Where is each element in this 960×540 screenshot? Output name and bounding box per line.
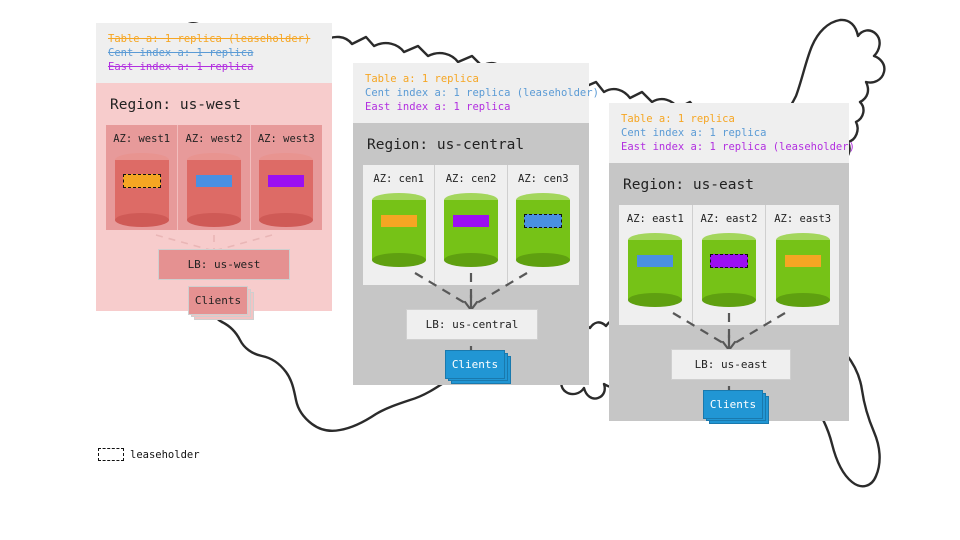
- az-cen1[interactable]: AZ: cen1: [363, 165, 434, 285]
- az-east2-label: AZ: east2: [693, 213, 766, 225]
- cylinder-body: [259, 160, 313, 220]
- cylinder-body: [187, 160, 241, 220]
- replica-chunk-cent-index: [637, 255, 673, 267]
- replica-line-cent: Cent index a: 1 replica: [621, 126, 837, 140]
- replica-chunk-cent-index: [196, 175, 232, 187]
- replica-line-table: Table a: 1 replica (leaseholder): [108, 32, 320, 46]
- cylinder-body: [372, 200, 426, 260]
- az-cen1-label: AZ: cen1: [363, 173, 434, 185]
- az-west3[interactable]: AZ: west3: [250, 125, 322, 230]
- cylinder-bottom: [776, 293, 830, 307]
- cylinder-body: [628, 240, 682, 300]
- replica-line-cent: Cent index a: 1 replica: [108, 46, 320, 60]
- cylinder-body: [776, 240, 830, 300]
- cylinder-bottom: [516, 253, 570, 267]
- clients-us-west[interactable]: Clients: [188, 286, 248, 315]
- cylinder-body: [702, 240, 756, 300]
- cylinder-bottom: [115, 213, 169, 227]
- database-cylinder-west1: [115, 153, 169, 227]
- az-cen3-label: AZ: cen3: [508, 173, 579, 185]
- database-cylinder-east2: [702, 233, 756, 307]
- cylinder-body: [444, 200, 498, 260]
- region-us-east: Table a: 1 replica Cent index a: 1 repli…: [609, 103, 849, 421]
- load-balancer-us-east[interactable]: LB: us-east: [671, 349, 791, 380]
- clients-us-east[interactable]: Clients: [703, 390, 763, 419]
- cylinder-bottom: [628, 293, 682, 307]
- replica-chunk-table: [785, 255, 821, 267]
- leaseholder-legend: leaseholder: [98, 448, 200, 461]
- replica-line-east: East index a: 1 replica: [365, 100, 577, 114]
- cylinder-body: [115, 160, 169, 220]
- replica-chunk-table: [381, 215, 417, 227]
- load-balancer-us-west[interactable]: LB: us-west: [158, 249, 290, 280]
- replica-chunk-east-index: [268, 175, 304, 187]
- replica-line-table: Table a: 1 replica: [365, 72, 577, 86]
- az-cen3[interactable]: AZ: cen3: [507, 165, 579, 285]
- cylinder-bottom: [187, 213, 241, 227]
- cylinder-bottom: [372, 253, 426, 267]
- az-east1-label: AZ: east1: [619, 213, 692, 225]
- region-us-west-az-row: AZ: west1 AZ: west2: [106, 125, 322, 230]
- region-us-west-replica-legend: Table a: 1 replica (leaseholder) Cent in…: [96, 23, 332, 83]
- az-west1-label: AZ: west1: [106, 133, 177, 145]
- dashed-rect-icon: [98, 448, 124, 461]
- region-us-central: Table a: 1 replica Cent index a: 1 repli…: [353, 63, 589, 385]
- database-cylinder-cen1: [372, 193, 426, 267]
- az-cen2-label: AZ: cen2: [435, 173, 506, 185]
- az-east3-label: AZ: east3: [766, 213, 839, 225]
- region-us-central-body: Region: us-central AZ: cen1 AZ: cen2: [353, 123, 589, 385]
- region-us-east-title: Region: us-east: [609, 163, 849, 205]
- leaseholder-legend-label: leaseholder: [130, 449, 200, 461]
- database-cylinder-west3: [259, 153, 313, 227]
- database-cylinder-west2: [187, 153, 241, 227]
- region-us-central-az-row: AZ: cen1 AZ: cen2: [363, 165, 579, 285]
- diagram-canvas: Table a: 1 replica (leaseholder) Cent in…: [0, 0, 960, 540]
- database-cylinder-cen3: [516, 193, 570, 267]
- replica-chunk-table-leaseholder: [123, 174, 161, 188]
- az-east1[interactable]: AZ: east1: [619, 205, 692, 325]
- replica-chunk-east-index: [453, 215, 489, 227]
- load-balancer-us-central[interactable]: LB: us-central: [406, 309, 538, 340]
- az-east2[interactable]: AZ: east2: [692, 205, 766, 325]
- region-us-central-title: Region: us-central: [353, 123, 589, 165]
- region-us-east-body: Region: us-east AZ: east1 AZ: east2: [609, 163, 849, 421]
- database-cylinder-cen2: [444, 193, 498, 267]
- database-cylinder-east3: [776, 233, 830, 307]
- region-us-east-replica-legend: Table a: 1 replica Cent index a: 1 repli…: [609, 103, 849, 163]
- az-east3[interactable]: AZ: east3: [765, 205, 839, 325]
- replica-chunk-east-index-leaseholder: [710, 254, 748, 268]
- az-cen2[interactable]: AZ: cen2: [434, 165, 506, 285]
- az-west2-label: AZ: west2: [178, 133, 249, 145]
- cylinder-body: [516, 200, 570, 260]
- replica-line-east: East index a: 1 replica: [108, 60, 320, 74]
- cylinder-bottom: [259, 213, 313, 227]
- region-us-west: Table a: 1 replica (leaseholder) Cent in…: [96, 23, 332, 311]
- replica-line-east: East index a: 1 replica (leaseholder): [621, 140, 837, 154]
- az-west3-label: AZ: west3: [251, 133, 322, 145]
- clients-us-central[interactable]: Clients: [445, 350, 505, 379]
- replica-line-cent: Cent index a: 1 replica (leaseholder): [365, 86, 577, 100]
- region-us-west-body: Region: us-west AZ: west1 AZ: west2: [96, 83, 332, 311]
- region-us-east-az-row: AZ: east1 AZ: east2: [619, 205, 839, 325]
- region-us-west-title: Region: us-west: [96, 83, 332, 125]
- az-west1[interactable]: AZ: west1: [106, 125, 177, 230]
- cylinder-bottom: [444, 253, 498, 267]
- region-us-central-replica-legend: Table a: 1 replica Cent index a: 1 repli…: [353, 63, 589, 123]
- database-cylinder-east1: [628, 233, 682, 307]
- replica-chunk-cent-index-leaseholder: [524, 214, 562, 228]
- az-west2[interactable]: AZ: west2: [177, 125, 249, 230]
- cylinder-bottom: [702, 293, 756, 307]
- replica-line-table: Table a: 1 replica: [621, 112, 837, 126]
